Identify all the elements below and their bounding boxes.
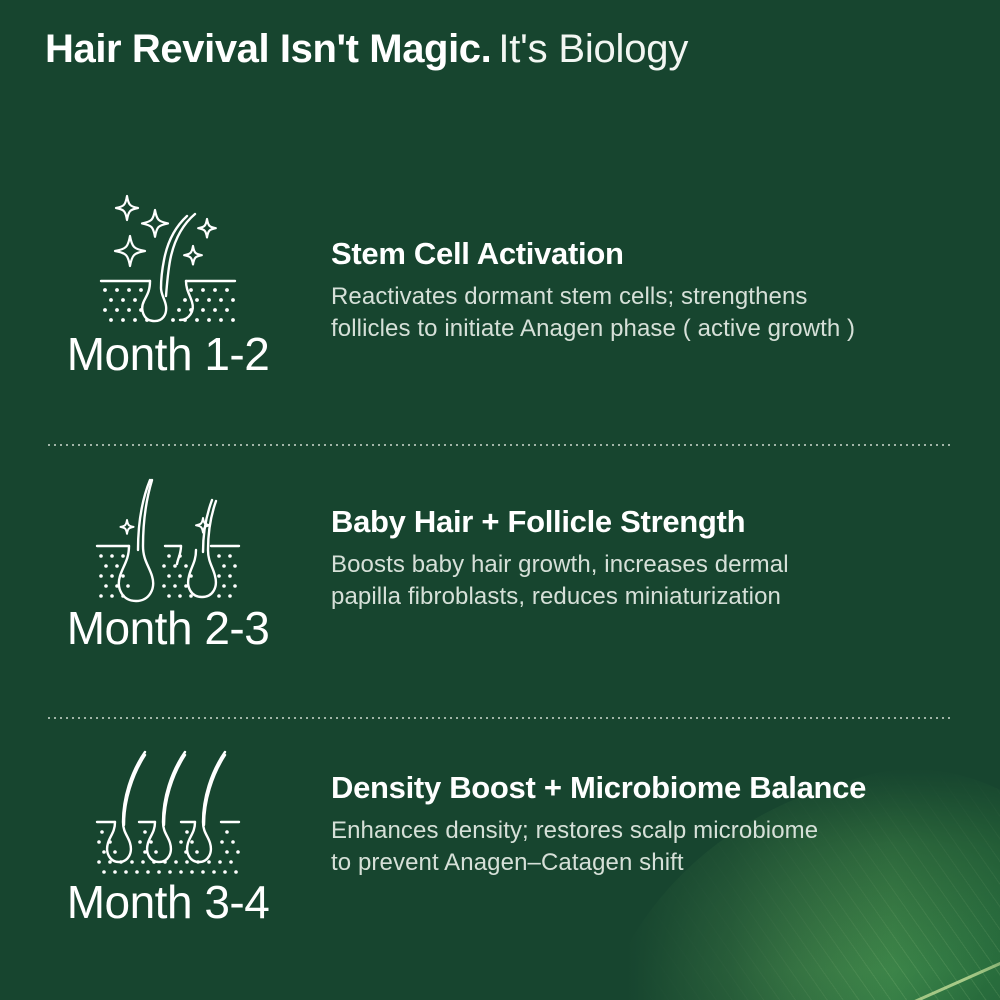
section-divider (48, 444, 952, 446)
two-follicles-icon (93, 458, 243, 608)
timeline-row-2-content: Baby Hair + Follicle Strength Boosts bab… (331, 504, 991, 614)
section-body: Boosts baby hair growth, increases derma… (331, 549, 991, 614)
timeline-month-label: Month 3-4 (18, 878, 318, 926)
section-body-line-2: papilla fibroblasts, reduces miniaturiza… (331, 581, 991, 614)
section-body: Enhances density; restores scalp microbi… (331, 815, 991, 880)
timeline-row-1-content: Stem Cell Activation Reactivates dormant… (331, 236, 991, 346)
timeline-row-2: Month 2-3 Baby Hair + Follicle Strength … (0, 452, 1000, 702)
section-title: Density Boost + Microbiome Balance (331, 770, 991, 806)
page-title-light: It's Biology (498, 27, 688, 71)
timeline-row-1: Month 1-2 Stem Cell Activation Reactivat… (0, 178, 1000, 428)
timeline-month-label: Month 2-3 (18, 604, 318, 652)
timeline-row-3: Month 3-4 Density Boost + Microbiome Bal… (0, 726, 1000, 976)
timeline-month-label: Month 1-2 (18, 330, 318, 378)
section-body-line-2: to prevent Anagen–Catagen shift (331, 847, 991, 880)
section-body-line-1: Boosts baby hair growth, increases derma… (331, 549, 991, 582)
infographic-page: Hair Revival Isn't Magic.It's Biology (0, 0, 1000, 1000)
timeline-row-3-content: Density Boost + Microbiome Balance Enhan… (331, 770, 991, 880)
timeline-row-2-left: Month 2-3 (18, 452, 318, 652)
three-follicles-density-icon (93, 732, 243, 882)
section-divider (48, 717, 952, 719)
page-title: Hair Revival Isn't Magic.It's Biology (45, 27, 688, 72)
page-title-bold: Hair Revival Isn't Magic. (45, 27, 491, 71)
section-body-line-1: Reactivates dormant stem cells; strength… (331, 281, 991, 314)
section-title: Stem Cell Activation (331, 236, 991, 272)
timeline-row-1-left: Month 1-2 (18, 178, 318, 378)
section-body-line-1: Enhances density; restores scalp microbi… (331, 815, 991, 848)
section-body: Reactivates dormant stem cells; strength… (331, 281, 991, 346)
timeline-row-3-left: Month 3-4 (18, 726, 318, 926)
section-title: Baby Hair + Follicle Strength (331, 504, 991, 540)
section-body-line-2: follicles to initiate Anagen phase ( act… (331, 313, 991, 346)
hair-follicle-sparkles-icon (93, 184, 243, 334)
